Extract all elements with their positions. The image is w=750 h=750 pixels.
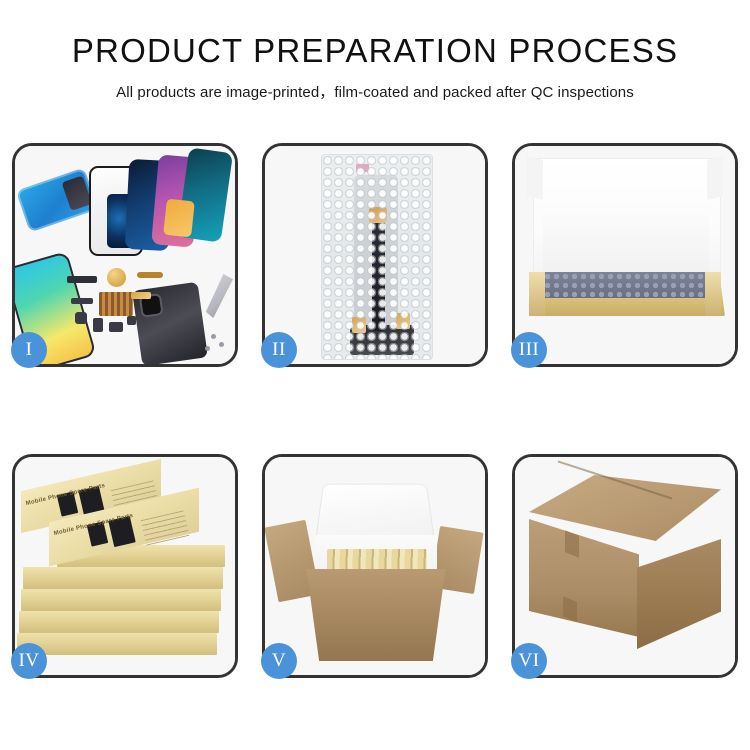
tray-edge-right-icon — [705, 272, 721, 316]
speaker-coin-icon — [107, 268, 126, 287]
step-5-image — [265, 457, 485, 675]
open-carton-scene — [265, 457, 485, 675]
stack-box-6b — [49, 633, 217, 655]
circuit-board-icon — [99, 292, 133, 316]
step-2-image — [265, 146, 485, 364]
carton-side-face — [637, 539, 721, 649]
step-4-image: Mobile Phone Spare Parts Mobile Phone Sp… — [15, 457, 235, 675]
process-step-3[interactable]: III — [512, 143, 738, 367]
step-6-image — [515, 457, 735, 675]
phone-blue-icon — [16, 167, 98, 232]
small-part-b-icon — [75, 312, 87, 324]
grey-foam-padding-icon — [543, 272, 711, 298]
phone-gold-icon — [163, 199, 195, 238]
page-header: PRODUCT PREPARATION PROCESS All products… — [0, 0, 750, 102]
flex-cable-icon — [137, 272, 163, 278]
battery-bar-icon — [67, 276, 97, 283]
step-badge-3: III — [511, 332, 547, 368]
stack-box-5b — [51, 611, 219, 633]
small-part-c-icon — [93, 318, 103, 332]
components-scene — [15, 146, 235, 364]
poster-root: PRODUCT PREPARATION PROCESS All products… — [0, 0, 750, 750]
white-foam-sheet-icon — [543, 202, 709, 274]
stack-box-4b — [53, 589, 221, 611]
step-badge-4: IV — [11, 643, 47, 679]
process-step-1[interactable]: I — [12, 143, 238, 367]
step-badge-1: I — [11, 332, 47, 368]
screw-c-icon — [205, 346, 210, 351]
step-badge-6: VI — [511, 643, 547, 679]
bubble-texture — [322, 155, 432, 359]
tray-edge-left-icon — [529, 272, 545, 316]
stack-box-3b — [55, 567, 223, 589]
step-badge-5: V — [261, 643, 297, 679]
step-3-image — [515, 146, 735, 364]
sealed-carton-scene — [515, 457, 735, 675]
process-step-4[interactable]: Mobile Phone Spare Parts Mobile Phone Sp… — [12, 454, 238, 678]
carton-front-face — [529, 519, 639, 637]
bubble-wrap-bag — [321, 154, 433, 360]
small-part-a-icon — [71, 298, 93, 304]
carton-body-icon — [297, 569, 455, 661]
gold-connector-icon — [131, 292, 151, 299]
page-subtitle: All products are image-printed，film-coat… — [0, 81, 750, 102]
process-step-5[interactable]: V — [262, 454, 488, 678]
process-grid: I II — [12, 143, 738, 678]
process-step-6[interactable]: VI — [512, 454, 738, 678]
step-1-image — [15, 146, 235, 364]
screw-a-icon — [211, 334, 216, 339]
foam-box-scene — [515, 146, 735, 364]
step-badge-2: II — [261, 332, 297, 368]
process-step-2[interactable]: II — [262, 143, 488, 367]
box-stack-scene: Mobile Phone Spare Parts Mobile Phone Sp… — [15, 457, 235, 675]
small-part-e-icon — [127, 316, 136, 325]
page-title: PRODUCT PREPARATION PROCESS — [0, 34, 750, 69]
lid-flap-left-icon — [527, 156, 543, 200]
small-part-d-icon — [109, 322, 123, 332]
bubble-bag-scene — [265, 146, 485, 364]
lid-flap-right-icon — [707, 156, 723, 200]
tweezers-icon — [199, 274, 233, 318]
screw-b-icon — [219, 342, 224, 347]
